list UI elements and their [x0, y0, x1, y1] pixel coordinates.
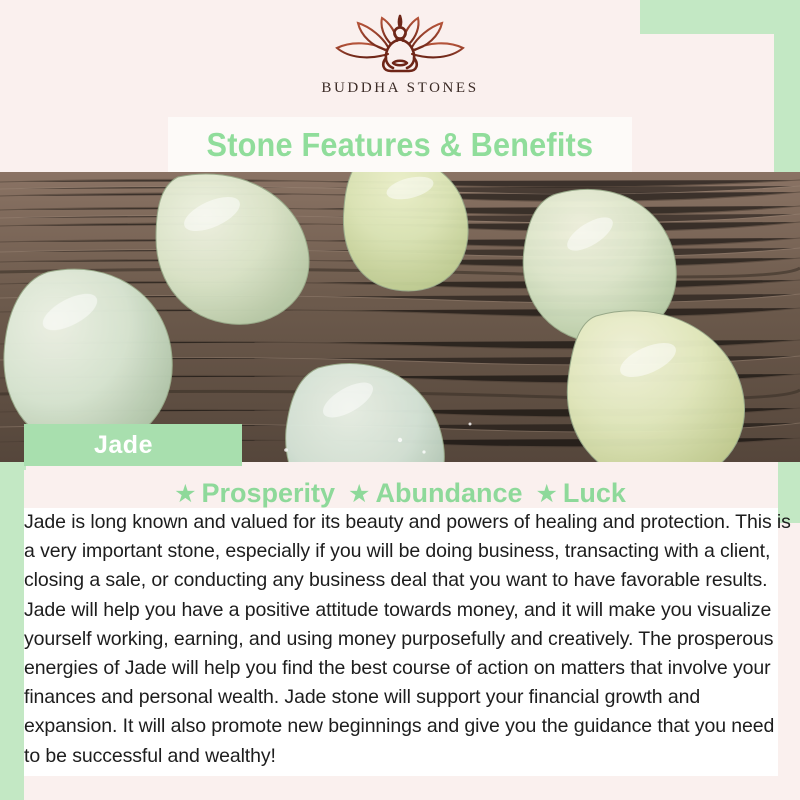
jade-stones-photo	[0, 172, 800, 462]
stone-description-panel: Jade is long known and valued for its be…	[24, 508, 778, 776]
stone-name-bar: Jade	[24, 424, 242, 466]
star-icon-prosperity: ★	[174, 479, 196, 509]
stone-keywords: ★Prosperity★Abundance★Luck	[0, 478, 800, 509]
stone-name-label: Jade	[24, 431, 153, 460]
page-title: Stone Features & Benefits	[207, 126, 594, 164]
lotus-meditation-figure-icon	[325, 14, 475, 76]
decorative-green-bar-left-lower	[0, 466, 24, 800]
stone-description-text: Jade is long known and valued for its be…	[24, 508, 794, 771]
star-icon-luck: ★	[535, 479, 557, 509]
title-banner: Stone Features & Benefits	[168, 117, 632, 173]
brand-logo: BUDDHA STONES	[270, 14, 530, 97]
star-icon-abundance: ★	[348, 479, 370, 509]
brand-header: BUDDHA STONES	[0, 0, 800, 118]
keyword-luck: Luck	[563, 478, 626, 509]
brand-wordmark: BUDDHA STONES	[270, 80, 530, 97]
keyword-prosperity: Prosperity	[201, 478, 335, 509]
photo-illustration	[0, 172, 800, 462]
keyword-abundance: Abundance	[375, 478, 522, 509]
